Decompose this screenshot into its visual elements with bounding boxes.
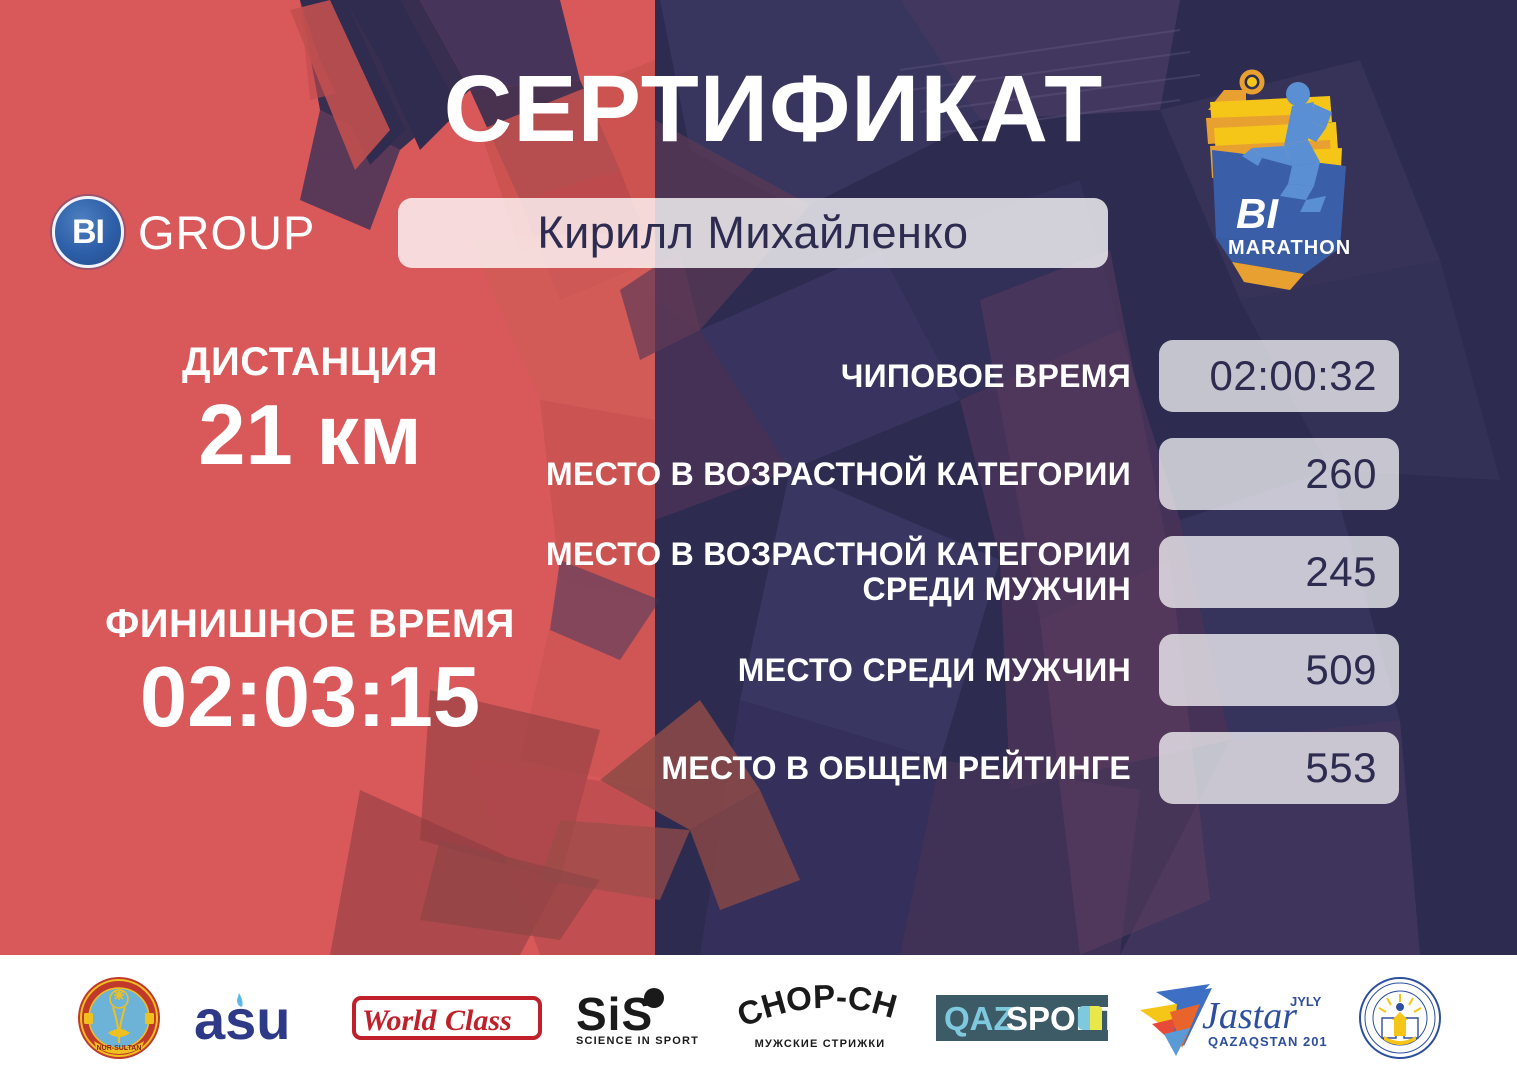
stat-age-category-value: 260 [1305,450,1377,498]
left-stats: ДИСТАНЦИЯ 21 км ФИНИШНОЕ ВРЕМЯ 02:03:15 [0,340,620,745]
sponsor-nur-sultan: NUR-SULTAN [76,975,162,1061]
sponsor-asu: asu [192,987,322,1049]
sponsor-world-class: World Class [352,990,542,1046]
right-stats: ЧИПОВОЕ ВРЕМЯ 02:00:32 МЕСТО В ВОЗРАСТНО… [530,340,1399,804]
stat-overall-pill: 553 [1159,732,1399,804]
world-label: World [362,1004,437,1037]
stat-row-age-category-men: МЕСТО В ВОЗРАСТНОЙ КАТЕГОРИИ СРЕДИ МУЖЧИ… [530,536,1399,608]
stat-men-label: МЕСТО СРЕДИ МУЖЧИН [530,653,1131,688]
sponsor-qazsport: QAZ SPORT [936,995,1108,1041]
ministry-seal-icon [1358,976,1442,1060]
participant-name: Кирилл Михайленко [537,207,968,259]
sponsor-bar: NUR-SULTAN asu World Class SiS SCIENCE I… [0,955,1517,1080]
stat-age-category-label: МЕСТО В ВОЗРАСТНОЙ КАТЕГОРИИ [530,457,1131,492]
certificate: СЕРТИФИКАТ BI GROUP Кирилл Михайленко [0,0,1517,1080]
stat-age-category-men-label: МЕСТО В ВОЗРАСТНОЙ КАТЕГОРИИ СРЕДИ МУЖЧИ… [530,537,1131,606]
chop-chop-label: CHOP-CHOP [734,985,901,1034]
qazsport-logo-icon: QAZ SPORT [936,995,1108,1041]
bi-group-logo: BI GROUP [52,196,315,268]
stat-row-men: МЕСТО СРЕДИ МУЖЧИН 509 [530,634,1399,706]
stat-age-category-pill: 260 [1159,438,1399,510]
stat-overall-label: МЕСТО В ОБЩЕМ РЕЙТИНГЕ [530,751,1131,786]
asu-label: asu [194,988,291,1049]
stat-finish-time-value: 02:03:15 [0,651,620,745]
stat-row-overall: МЕСТО В ОБЩЕМ РЕЙТИНГЕ 553 [530,732,1399,804]
stat-finish-time-label: ФИНИШНОЕ ВРЕМЯ [0,602,620,647]
jastar-tagline: QAZAQSTAN 2019 [1208,1034,1328,1049]
asu-logo-icon: asu [192,987,322,1049]
sponsor-ministry-seal [1358,976,1442,1060]
marathon-bi-label: BI [1236,190,1279,237]
class-label: Class [445,1004,512,1037]
sis-tagline: SCIENCE IN SPORT [576,1035,699,1047]
world-class-logo-icon: World Class [352,990,542,1046]
stat-men-value: 509 [1305,646,1377,694]
svg-text:CHOP-CHOP: CHOP-CHOP [734,985,901,1034]
jastar-label: Jastar [1202,995,1297,1037]
bi-group-word: GROUP [138,205,315,260]
chop-chop-logo-icon: CHOP-CHOP МУЖСКИЕ СТРИЖКИ [734,985,906,1051]
bi-badge-icon: BI [52,196,124,268]
stat-men-pill: 509 [1159,634,1399,706]
nur-sultan-emblem-icon: NUR-SULTAN [76,975,162,1061]
qaz-label: QAZ [944,1000,1014,1037]
jastar-jyly-label: JYLY [1290,994,1322,1009]
sponsor-chop-chop: CHOP-CHOP МУЖСКИЕ СТРИЖКИ [734,985,906,1051]
marathon-word-label: MARATHON [1228,237,1351,259]
sis-dot-icon [644,988,664,1008]
chop-chop-tagline: МУЖСКИЕ СТРИЖКИ [754,1038,885,1050]
stat-chip-time-value: 02:00:32 [1210,352,1378,400]
stat-finish-time: ФИНИШНОЕ ВРЕМЯ 02:03:15 [0,602,620,744]
stat-age-category-men-pill: 245 [1159,536,1399,608]
bi-badge-label: BI [72,213,104,252]
stat-distance-label: ДИСТАНЦИЯ [0,340,620,385]
stat-overall-value: 553 [1305,744,1377,792]
sponsor-sis: SiS SCIENCE IN SPORT [572,986,704,1050]
bi-marathon-logo: BI MARATHON [1180,62,1380,302]
sponsor-jastar: Jastar JYLY QAZAQSTAN 2019 [1138,976,1328,1060]
stat-age-category-men-value: 245 [1305,548,1377,596]
stat-chip-time-pill: 02:00:32 [1159,340,1399,412]
nur-sultan-label: NUR-SULTAN [96,1045,141,1052]
participant-name-banner: Кирилл Михайленко [398,198,1108,268]
stat-distance-value: 21 км [0,389,620,483]
stat-row-age-category: МЕСТО В ВОЗРАСТНОЙ КАТЕГОРИИ 260 [530,438,1399,510]
stat-distance: ДИСТАНЦИЯ 21 км [0,340,620,482]
stat-chip-time-label: ЧИПОВОЕ ВРЕМЯ [530,359,1131,394]
sis-logo-icon: SiS SCIENCE IN SPORT [572,986,704,1050]
stat-row-chip-time: ЧИПОВОЕ ВРЕМЯ 02:00:32 [530,340,1399,412]
jastar-logo-icon: Jastar JYLY QAZAQSTAN 2019 [1138,976,1328,1060]
sis-label: SiS [576,988,653,1040]
